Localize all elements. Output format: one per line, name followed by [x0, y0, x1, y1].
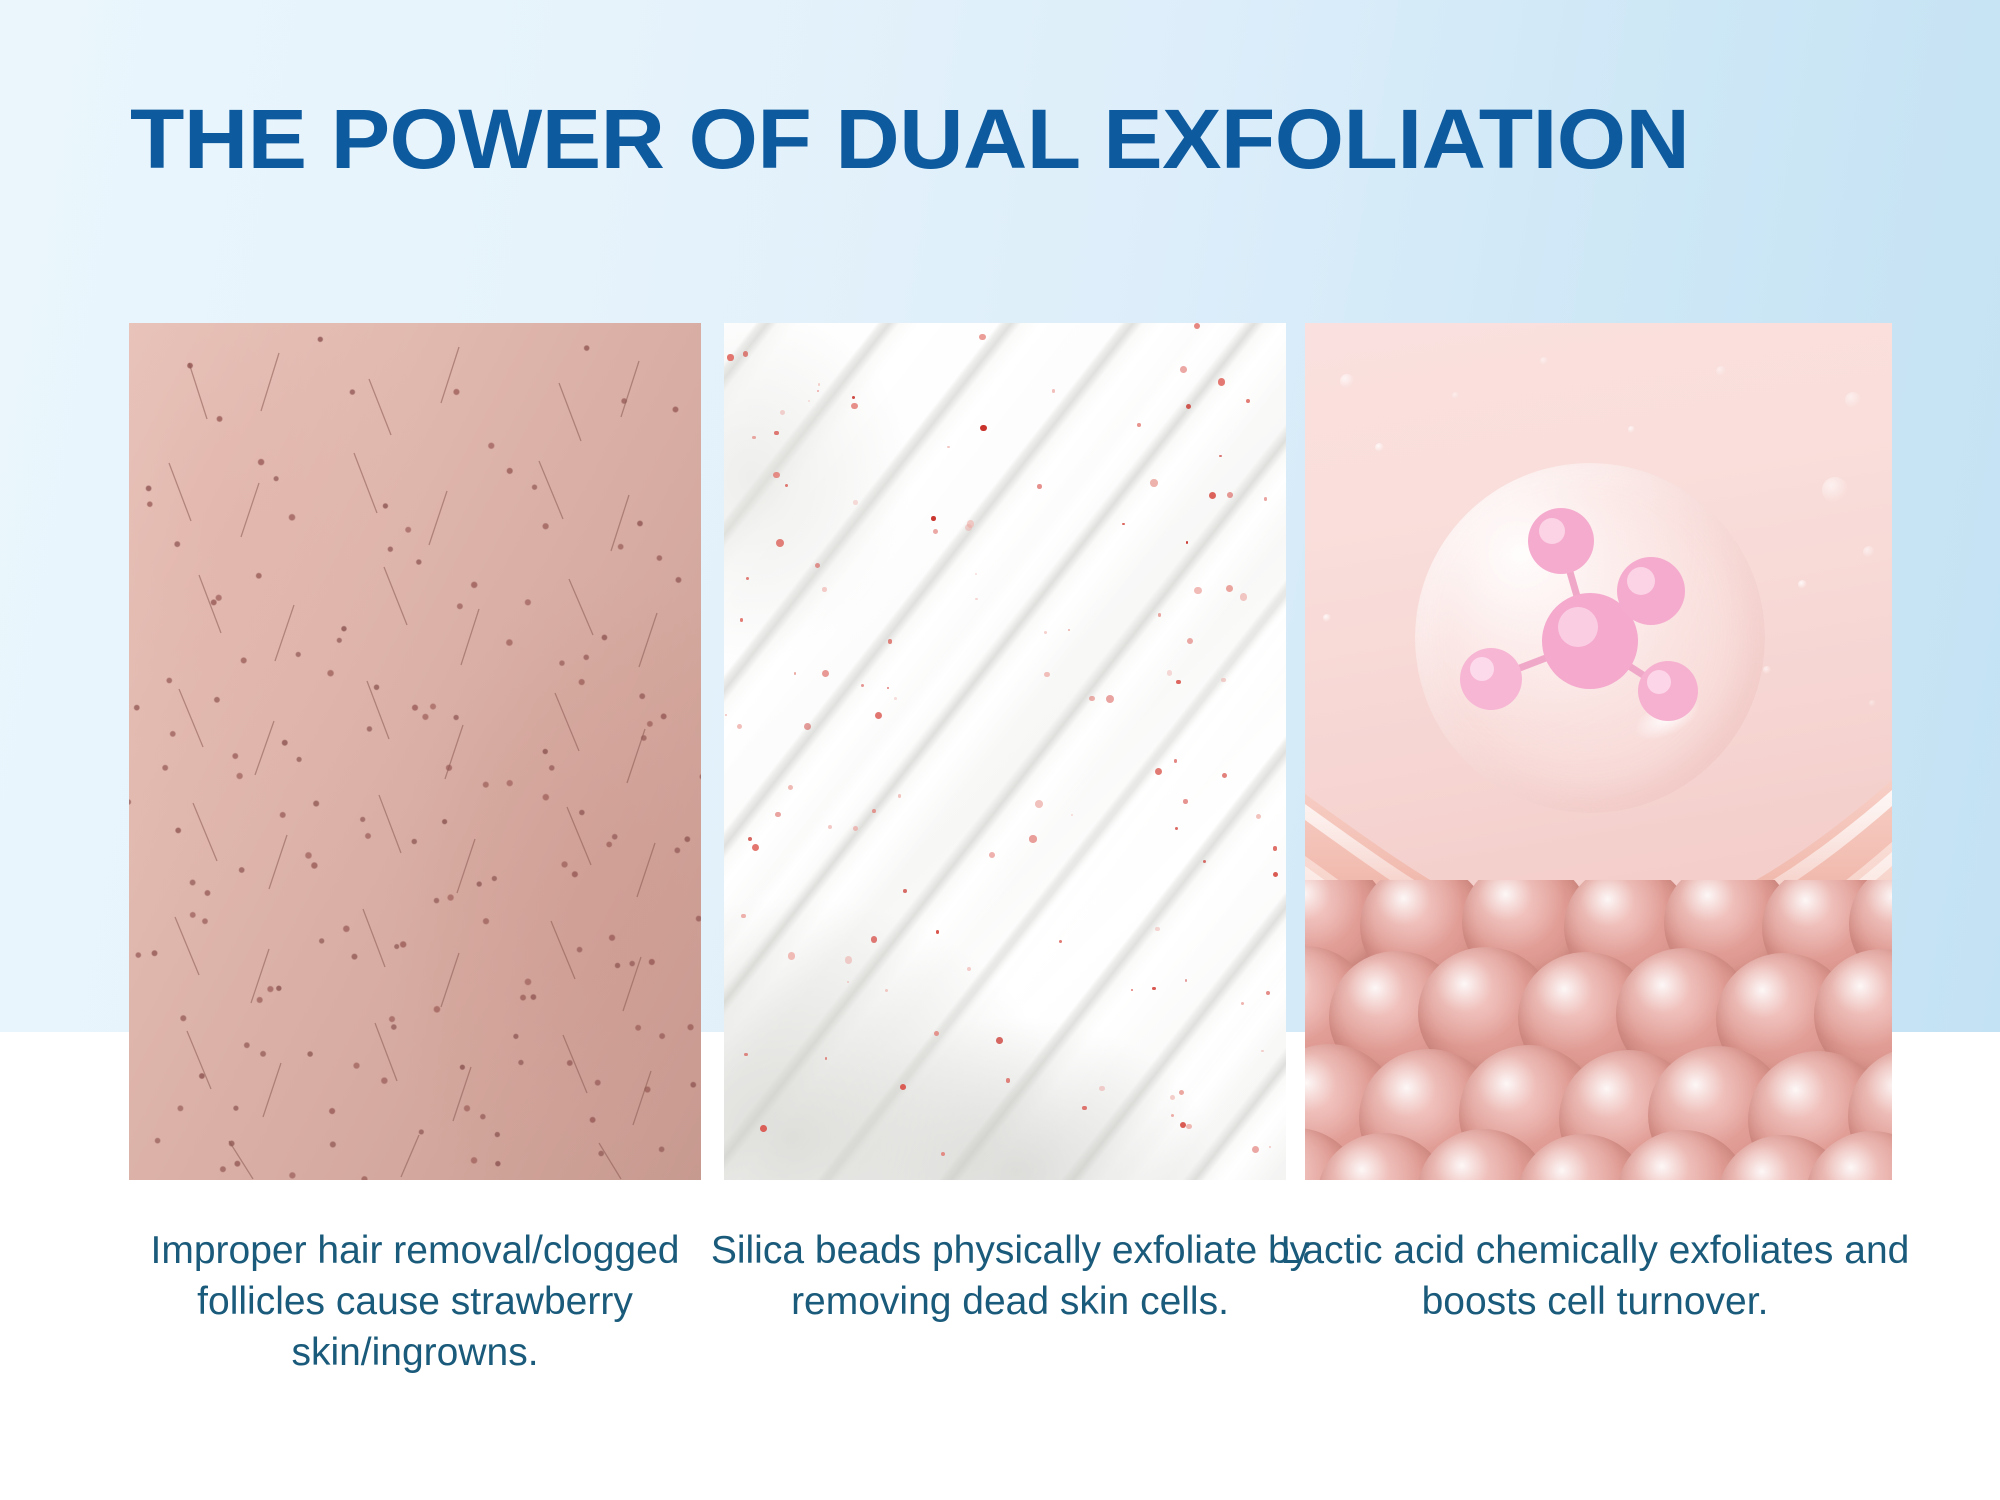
caption-silica-beads: Silica beads physically exfoliate by rem… — [690, 1225, 1330, 1327]
strawberry-skin-photo — [129, 323, 701, 1180]
silica-bead-cream-photo — [724, 323, 1286, 1180]
caption-lactic-acid: Lactic acid chemically exfoliates and bo… — [1275, 1225, 1915, 1327]
page-title: THE POWER OF DUAL EXFOLIATION — [130, 96, 1996, 182]
hair-strands-overlay — [129, 323, 701, 1180]
caption-strawberry-skin: Improper hair removal/clogged follicles … — [95, 1225, 735, 1378]
silica-beads-overlay — [724, 323, 1286, 1180]
skin-cell-spheres — [1305, 880, 1892, 1180]
infographic-slide: THE POWER OF DUAL EXFOLIATION — [0, 0, 2000, 1500]
lactic-acid-skin-layer-illustration — [1305, 323, 1892, 1180]
